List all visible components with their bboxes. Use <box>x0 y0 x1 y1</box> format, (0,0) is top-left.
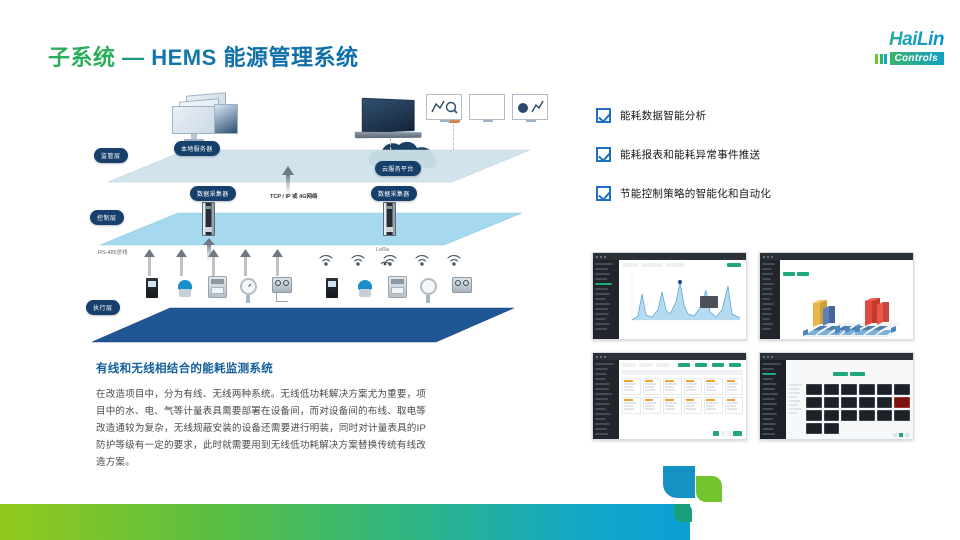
device-card-grid <box>622 378 743 414</box>
title-part-3: HEMS <box>151 45 223 70</box>
architecture-diagram: 监管层 本地服务器 云服务平台 TCP / IP 或 4G网络 控制层 数据采集… <box>80 82 530 347</box>
pagination[interactable] <box>713 431 742 436</box>
screenshot-content <box>619 260 746 339</box>
layer-label-supervision: 监管层 <box>94 148 128 163</box>
device-card[interactable] <box>725 397 744 414</box>
checklist-item-1-label: 能耗数据智能分析 <box>620 108 706 123</box>
network-label-tcpip: TCP / IP 或 4G网络 <box>270 192 317 200</box>
checkbox-checked-icon[interactable] <box>596 147 611 162</box>
data-collector-wired-icon <box>202 202 215 236</box>
screenshot-device-cards[interactable] <box>592 352 747 440</box>
checklist-item-3[interactable]: 节能控制策略的智能化和自动化 <box>596 186 896 201</box>
node-label-cloud-platform: 云服务平台 <box>375 161 421 176</box>
screenshot-titlebar <box>593 353 746 360</box>
device-tile[interactable] <box>806 384 822 395</box>
device-card[interactable] <box>704 397 723 414</box>
device-tile[interactable] <box>877 397 893 408</box>
device-card[interactable] <box>622 397 641 414</box>
kpi-monitor-4-icon <box>426 94 462 120</box>
device-card[interactable] <box>684 397 703 414</box>
data-collector-wireless-icon <box>383 202 396 236</box>
device-tile[interactable] <box>841 410 857 421</box>
screenshot-3d-bar[interactable] <box>759 252 914 340</box>
checkbox-checked-icon[interactable] <box>596 186 611 201</box>
device-tile[interactable] <box>824 423 840 434</box>
slide-root: 子系统 — HEMS 能源管理系统 HaiLin Controls <box>0 0 960 540</box>
checklist-item-2[interactable]: 能耗报表和能耗异常事件推送 <box>596 147 896 162</box>
meter-wireless-4-icon <box>420 278 437 295</box>
logo-bars-icon <box>875 54 887 64</box>
screenshot-titlebar <box>760 353 913 360</box>
screenshot-titlebar <box>760 253 913 260</box>
checklist-item-2-label: 能耗报表和能耗异常事件推送 <box>620 147 760 162</box>
kpi-monitor-2-icon <box>469 94 505 120</box>
layer-plane-supervision <box>80 144 530 188</box>
screenshot-device-panel[interactable] <box>759 352 914 440</box>
device-tile[interactable] <box>824 410 840 421</box>
checkbox-checked-icon[interactable] <box>596 108 611 123</box>
device-tile[interactable] <box>841 384 857 395</box>
device-card[interactable] <box>663 397 682 414</box>
kpi-monitor-3-icon <box>512 94 548 120</box>
device-card[interactable] <box>725 378 744 395</box>
meter-wired-2-icon <box>178 280 192 290</box>
screenshot-body <box>593 260 746 339</box>
screenshot-content <box>619 360 746 439</box>
left-text-body: 在改造项目中，分为有线、无线两种系统。无线低功耗解决方案尤为重要，项目中的水、电… <box>96 386 426 471</box>
device-tile[interactable] <box>859 397 875 408</box>
meter-wireless-1-icon <box>326 278 338 298</box>
device-tile[interactable] <box>877 384 893 395</box>
meter-wireless-2-icon <box>358 280 372 290</box>
pagination[interactable] <box>893 433 909 437</box>
network-label-rs485: RS-485总线 <box>98 248 128 256</box>
device-tile-grid <box>806 384 910 434</box>
device-tile[interactable] <box>894 384 910 395</box>
panel-tree <box>789 384 803 434</box>
checklist-item-1[interactable]: 能耗数据智能分析 <box>596 108 896 123</box>
device-tile[interactable] <box>859 384 875 395</box>
meter-wired-5-icon <box>272 277 292 293</box>
screenshot-body <box>760 260 913 339</box>
screenshot-sidebar <box>760 360 786 439</box>
layer-plane-control <box>80 207 530 251</box>
title-part-4: 能源管理系统 <box>223 45 358 70</box>
device-tile[interactable] <box>877 410 893 421</box>
device-card[interactable] <box>663 378 682 395</box>
device-tile[interactable] <box>894 410 910 421</box>
footer-gradient-bar <box>0 504 690 540</box>
screenshot-titlebar <box>593 253 746 260</box>
meter-wired-4-icon <box>240 278 257 295</box>
checklist-item-3-label: 节能控制策略的智能化和自动化 <box>620 186 771 201</box>
screenshot-content <box>780 260 913 339</box>
layer-plane-execution <box>80 298 530 348</box>
node-label-collector-wireless: 数据采集器 <box>371 186 417 201</box>
device-card[interactable] <box>684 378 703 395</box>
screenshot-energy-trend[interactable] <box>592 252 747 340</box>
meter-wireless-3-icon <box>388 276 407 298</box>
brand-logo: HaiLin Controls <box>832 30 944 74</box>
logo-subrow: Controls <box>832 52 944 65</box>
device-tile[interactable] <box>824 397 840 408</box>
feature-checklist: 能耗数据智能分析 能耗报表和能耗异常事件推送 节能控制策略的智能化和自动化 <box>596 108 896 225</box>
screenshot-body <box>593 360 746 439</box>
decor-leaf-green <box>674 504 692 522</box>
screenshot-sidebar <box>593 260 619 339</box>
device-card[interactable] <box>643 397 662 414</box>
device-tile[interactable] <box>806 397 822 408</box>
screenshot-content <box>786 360 913 439</box>
page-title: 子系统 — HEMS 能源管理系统 <box>48 40 358 72</box>
node-label-local-server: 本地服务器 <box>174 141 220 156</box>
title-part-2: — <box>122 45 151 70</box>
screenshot-body <box>760 360 913 439</box>
trend-area-chart <box>622 270 742 324</box>
node-label-collector-wired: 数据采集器 <box>190 186 236 201</box>
device-tile[interactable] <box>859 410 875 421</box>
logo-subtext: Controls <box>890 52 944 65</box>
meter-wired-3-icon <box>208 276 227 298</box>
decor-leaf-blue <box>663 466 695 498</box>
device-tile-alert[interactable] <box>894 397 910 408</box>
device-card[interactable] <box>643 378 662 395</box>
title-part-1: 子系统 <box>48 45 122 70</box>
left-text-heading: 有线和无线相结合的能耗监测系统 <box>96 360 273 376</box>
device-tile[interactable] <box>806 410 822 421</box>
device-card[interactable] <box>622 378 641 395</box>
panel-layout <box>789 384 910 434</box>
device-tile[interactable] <box>824 384 840 395</box>
screenshot-sidebar <box>760 260 780 339</box>
meter-wired-1-icon <box>146 278 158 298</box>
screenshot-gallery <box>592 252 914 440</box>
wireless-wifi-icons <box>318 252 478 272</box>
layer-label-control: 控制层 <box>90 210 124 225</box>
device-card[interactable] <box>704 378 723 395</box>
logo-wordmark: HaiLin <box>832 30 944 50</box>
meter-wireless-5-icon <box>452 277 472 293</box>
layer-label-execution: 执行层 <box>86 300 120 315</box>
decor-leaf-light-green <box>696 476 722 502</box>
screenshot-sidebar <box>593 360 619 439</box>
wired-uplink-arrows-icon <box>138 248 298 276</box>
bar3d-chart <box>783 283 909 340</box>
device-tile[interactable] <box>841 397 857 408</box>
device-tile[interactable] <box>806 423 822 434</box>
